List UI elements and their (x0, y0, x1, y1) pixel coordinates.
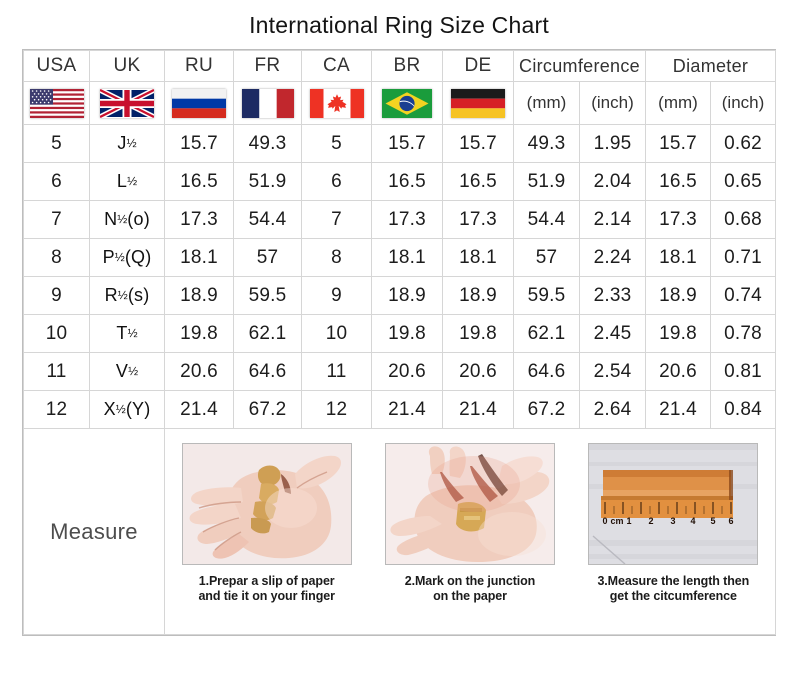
cell-ca: 6 (302, 163, 372, 201)
cell-usa: 12 (24, 391, 90, 429)
cell-diameter-mm: 21.4 (646, 391, 711, 429)
cell-diameter-inch: 0.71 (711, 239, 776, 277)
flag-germany-icon (451, 89, 505, 118)
cell-circumference-mm: 57 (514, 239, 580, 277)
measure-label: Measure (24, 429, 165, 635)
page-title: International Ring Size Chart (0, 0, 798, 49)
cell-circumference-mm: 67.2 (514, 391, 580, 429)
cell-circumference-inch: 2.24 (580, 239, 646, 277)
cell-circumference-mm: 49.3 (514, 125, 580, 163)
cell-circumference-inch: 2.33 (580, 277, 646, 315)
ruler-tick-label: 4 (691, 516, 696, 526)
cell-de: 21.4 (443, 391, 514, 429)
cell-diameter-inch: 0.78 (711, 315, 776, 353)
column-header-diameter: Diameter (646, 51, 776, 82)
cell-ru: 19.8 (165, 315, 234, 353)
cell-diameter-mm: 16.5 (646, 163, 711, 201)
flag-canada-icon (310, 89, 364, 118)
measure-step-1-caption: 1.Prepar a slip of paper and tie it on y… (198, 574, 334, 605)
cell-uk: P½(Q) (90, 239, 165, 277)
cell-de: 18.9 (443, 277, 514, 315)
measure-step-1-caption-line1: 1.Prepar a slip of paper (199, 574, 335, 588)
cell-diameter-mm: 15.7 (646, 125, 711, 163)
cell-de: 16.5 (443, 163, 514, 201)
cell-ru: 20.6 (165, 353, 234, 391)
cell-circumference-inch: 2.54 (580, 353, 646, 391)
cell-fr: 59.5 (234, 277, 302, 315)
cell-diameter-mm: 20.6 (646, 353, 711, 391)
column-header-uk: UK (90, 51, 165, 82)
cell-circumference-inch: 2.04 (580, 163, 646, 201)
cell-diameter-mm: 18.9 (646, 277, 711, 315)
cell-br: 15.7 (372, 125, 443, 163)
hand-marking-paper-illustration (386, 444, 554, 564)
column-header-de: DE (443, 51, 514, 82)
cell-ca: 8 (302, 239, 372, 277)
cell-usa: 11 (24, 353, 90, 391)
cell-ru: 18.9 (165, 277, 234, 315)
ring-size-table-frame: USA UK RU FR CA BR DE Circumference Diam… (22, 49, 776, 636)
ruler-tick-label: 0 (603, 516, 608, 526)
column-header-circumference: Circumference (514, 51, 646, 82)
flag-usa-icon (30, 89, 84, 118)
unit-header-diameter-mm: (mm) (646, 82, 711, 125)
table-row: 10T½19.862.11019.819.862.12.4519.80.78 (24, 315, 776, 353)
flag-cell-fr (234, 82, 302, 125)
cell-uk: T½ (90, 315, 165, 353)
cell-diameter-inch: 0.65 (711, 163, 776, 201)
cell-diameter-mm: 18.1 (646, 239, 711, 277)
table-row: 5J½15.749.3515.715.749.31.9515.70.62 (24, 125, 776, 163)
cell-br: 18.9 (372, 277, 443, 315)
cell-fr: 62.1 (234, 315, 302, 353)
cell-fr: 64.6 (234, 353, 302, 391)
cell-br: 21.4 (372, 391, 443, 429)
cell-usa: 9 (24, 277, 90, 315)
flag-france-icon (242, 89, 294, 118)
cell-uk: V½ (90, 353, 165, 391)
cell-circumference-inch: 2.45 (580, 315, 646, 353)
table-row: 8P½(Q)18.157818.118.1572.2418.10.71 (24, 239, 776, 277)
paper-strip-on-ruler-illustration: 0cm123456 (589, 444, 757, 564)
column-header-ca: CA (302, 51, 372, 82)
table-body: 5J½15.749.3515.715.749.31.9515.70.626L½1… (24, 125, 776, 429)
unit-header-circumference-inch: (inch) (580, 82, 646, 125)
cell-fr: 57 (234, 239, 302, 277)
cell-circumference-mm: 62.1 (514, 315, 580, 353)
cell-fr: 49.3 (234, 125, 302, 163)
cell-uk: J½ (90, 125, 165, 163)
cell-circumference-inch: 1.95 (580, 125, 646, 163)
cell-fr: 54.4 (234, 201, 302, 239)
table-row: 6L½16.551.9616.516.551.92.0416.50.65 (24, 163, 776, 201)
column-header-br: BR (372, 51, 443, 82)
measure-step-3-caption-line1: 3.Measure the length then (597, 574, 749, 588)
cell-de: 15.7 (443, 125, 514, 163)
paper-strip-on-ruler-photo: 0cm123456 (588, 443, 758, 565)
cell-circumference-inch: 2.14 (580, 201, 646, 239)
table-row: 9R½(s)18.959.5918.918.959.52.3318.90.74 (24, 277, 776, 315)
cell-diameter-inch: 0.62 (711, 125, 776, 163)
cell-circumference-mm: 54.4 (514, 201, 580, 239)
unit-header-diameter-inch: (inch) (711, 82, 776, 125)
unit-header-circumference-mm: (mm) (514, 82, 580, 125)
cell-de: 19.8 (443, 315, 514, 353)
cell-diameter-inch: 0.74 (711, 277, 776, 315)
cell-circumference-mm: 59.5 (514, 277, 580, 315)
cell-usa: 8 (24, 239, 90, 277)
hand-with-paper-strip-illustration (183, 444, 351, 564)
cell-diameter-mm: 17.3 (646, 201, 711, 239)
hand-with-paper-strip-photo (182, 443, 352, 565)
cell-ru: 15.7 (165, 125, 234, 163)
table-row: 7N½(o)17.354.4717.317.354.42.1417.30.68 (24, 201, 776, 239)
cell-circumference-mm: 51.9 (514, 163, 580, 201)
cell-diameter-mm: 19.8 (646, 315, 711, 353)
cell-diameter-inch: 0.68 (711, 201, 776, 239)
ruler-tick-label: cm (611, 516, 624, 526)
flag-russia-icon (172, 89, 226, 118)
cell-fr: 51.9 (234, 163, 302, 201)
ruler-tick-label: 1 (627, 516, 632, 526)
cell-ca: 12 (302, 391, 372, 429)
cell-br: 19.8 (372, 315, 443, 353)
cell-usa: 6 (24, 163, 90, 201)
cell-de: 17.3 (443, 201, 514, 239)
cell-de: 18.1 (443, 239, 514, 277)
column-header-ru: RU (165, 51, 234, 82)
cell-ca: 9 (302, 277, 372, 315)
cell-br: 20.6 (372, 353, 443, 391)
cell-circumference-inch: 2.64 (580, 391, 646, 429)
measure-step-3-caption: 3.Measure the length then get the citcum… (597, 574, 749, 605)
cell-uk: N½(o) (90, 201, 165, 239)
measure-panels-cell: 1.Prepar a slip of paper and tie it on y… (165, 429, 776, 635)
flag-cell-ca (302, 82, 372, 125)
cell-usa: 10 (24, 315, 90, 353)
cell-de: 20.6 (443, 353, 514, 391)
cell-uk: X½(Y) (90, 391, 165, 429)
measure-step-1: 1.Prepar a slip of paper and tie it on y… (174, 443, 359, 605)
ruler-tick-label: 2 (649, 516, 654, 526)
cell-br: 18.1 (372, 239, 443, 277)
cell-ru: 18.1 (165, 239, 234, 277)
measure-step-3-caption-line2: get the citcumference (610, 589, 737, 603)
flag-cell-uk (90, 82, 165, 125)
cell-circumference-mm: 64.6 (514, 353, 580, 391)
ring-size-table: USA UK RU FR CA BR DE Circumference Diam… (23, 50, 776, 635)
cell-ru: 21.4 (165, 391, 234, 429)
flag-cell-usa (24, 82, 90, 125)
measure-step-2-caption-line1: 2.Mark on the junction (405, 574, 535, 588)
hand-marking-paper-photo (385, 443, 555, 565)
table-header-row-flags: (mm) (inch) (mm) (inch) (24, 82, 776, 125)
cell-br: 16.5 (372, 163, 443, 201)
ruler-tick-label: 6 (729, 516, 734, 526)
flag-cell-ru (165, 82, 234, 125)
cell-uk: L½ (90, 163, 165, 201)
cell-usa: 7 (24, 201, 90, 239)
cell-ca: 11 (302, 353, 372, 391)
cell-uk: R½(s) (90, 277, 165, 315)
cell-usa: 5 (24, 125, 90, 163)
cell-diameter-inch: 0.81 (711, 353, 776, 391)
measure-step-1-caption-line2: and tie it on your finger (198, 589, 334, 603)
flag-uk-icon (100, 89, 154, 118)
cell-ca: 7 (302, 201, 372, 239)
cell-ru: 16.5 (165, 163, 234, 201)
measure-step-2-caption: 2.Mark on the junction on the paper (405, 574, 535, 605)
measure-step-2-caption-line2: on the paper (433, 589, 507, 603)
measure-step-3: 0cm123456 3.Measure the length then get … (581, 443, 766, 605)
table-row: 12X½(Y)21.467.21221.421.467.22.6421.40.8… (24, 391, 776, 429)
cell-ru: 17.3 (165, 201, 234, 239)
column-header-fr: FR (234, 51, 302, 82)
table-row: 11V½20.664.61120.620.664.62.5420.60.81 (24, 353, 776, 391)
table-header-row-labels: USA UK RU FR CA BR DE Circumference Diam… (24, 51, 776, 82)
cell-br: 17.3 (372, 201, 443, 239)
flag-cell-de (443, 82, 514, 125)
measure-row: Measure (24, 429, 776, 635)
ruler-tick-label: 3 (671, 516, 676, 526)
flag-cell-br (372, 82, 443, 125)
ruler-tick-label: 5 (711, 516, 716, 526)
cell-ca: 5 (302, 125, 372, 163)
flag-brazil-icon (382, 89, 432, 118)
cell-ca: 10 (302, 315, 372, 353)
cell-fr: 67.2 (234, 391, 302, 429)
measure-step-2: 2.Mark on the junction on the paper (377, 443, 562, 605)
cell-diameter-inch: 0.84 (711, 391, 776, 429)
column-header-usa: USA (24, 51, 90, 82)
